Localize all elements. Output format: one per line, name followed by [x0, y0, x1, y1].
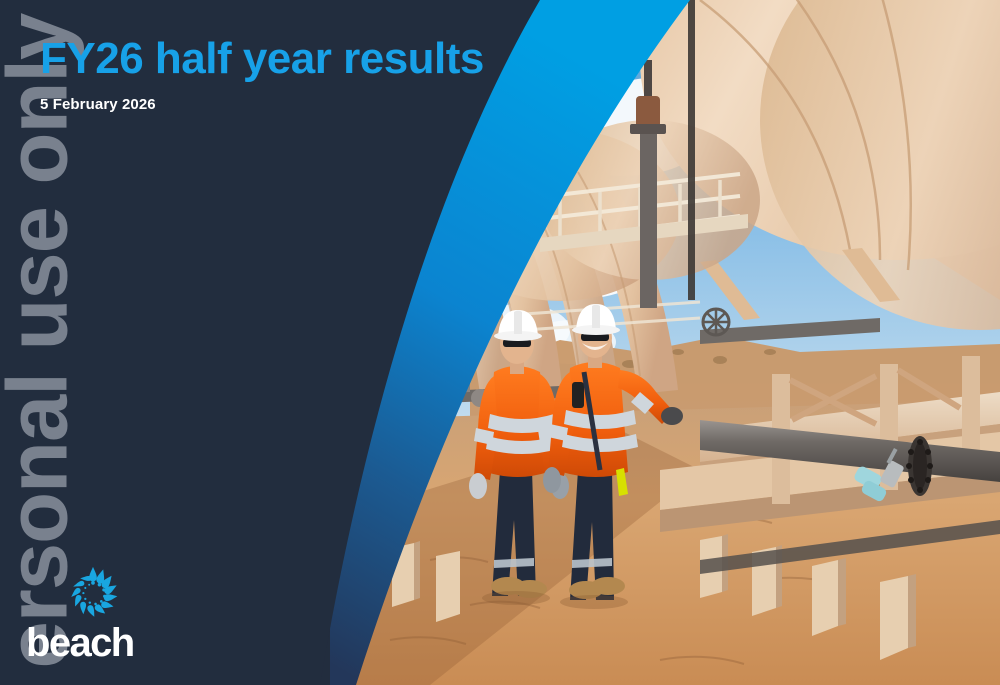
presentation-date: 5 February 2026 [40, 96, 484, 113]
beach-wordmark: beach [26, 623, 146, 663]
beach-energy-logo: beach [26, 563, 146, 663]
page-title: FY26 half year results [40, 36, 484, 82]
title-slide: ersonal use only FY26 half year results … [0, 0, 1000, 685]
droplet-spiral-icon [60, 563, 126, 627]
title-block: FY26 half year results 5 February 2026 [40, 36, 484, 113]
